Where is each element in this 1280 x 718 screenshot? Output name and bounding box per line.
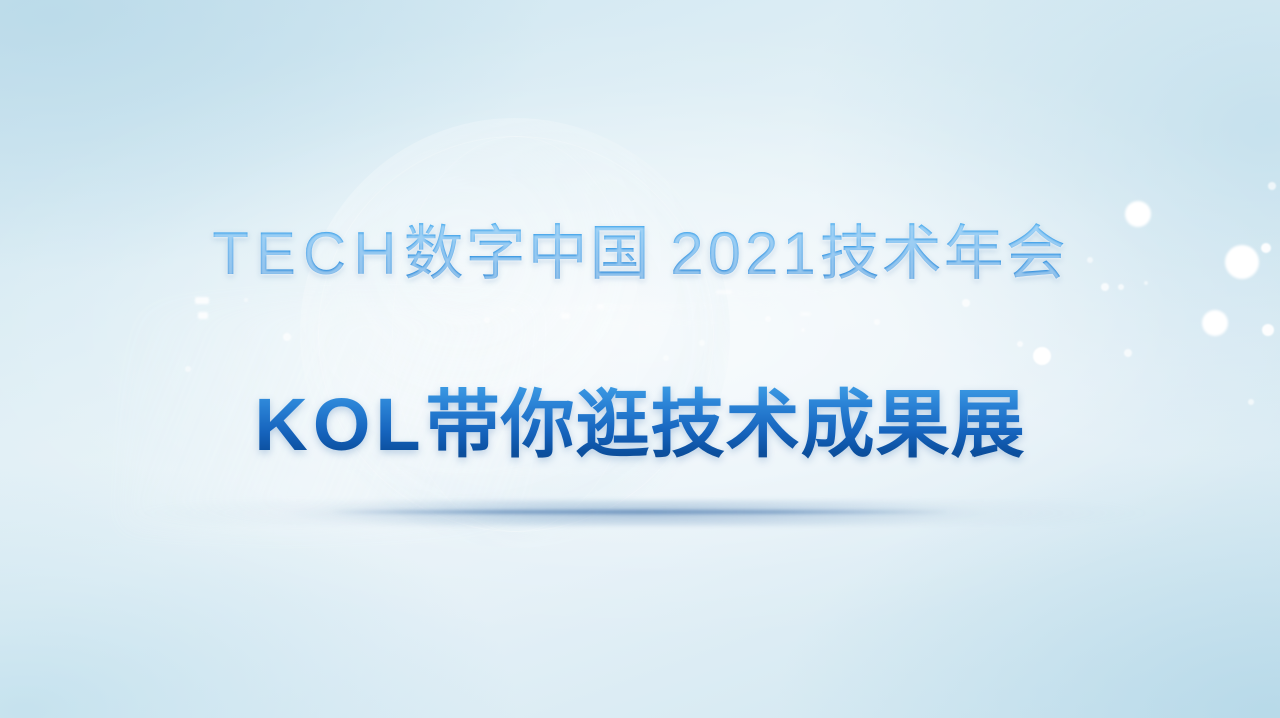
title-primary-latin: TECH [212,220,403,287]
title-primary-cjk-2: 技术年会 [820,220,1068,287]
title-primary-cjk-1: 数字中国 [404,220,652,287]
title-block: TECH数字中国 2021技术年会 KOL带你逛技术成果展 [0,0,1280,718]
page-title-secondary: KOL带你逛技术成果展 [0,382,1280,468]
page-title-primary: TECH数字中国 2021技术年会 [0,218,1280,290]
slide-canvas: TECH数字中国 2021技术年会 KOL带你逛技术成果展 [0,0,1280,718]
title-primary-space [652,220,671,287]
title-primary-year: 2021 [670,220,819,287]
title-secondary-cjk: 带你逛技术成果展 [426,383,1026,466]
title-secondary-latin: KOL [254,383,425,466]
